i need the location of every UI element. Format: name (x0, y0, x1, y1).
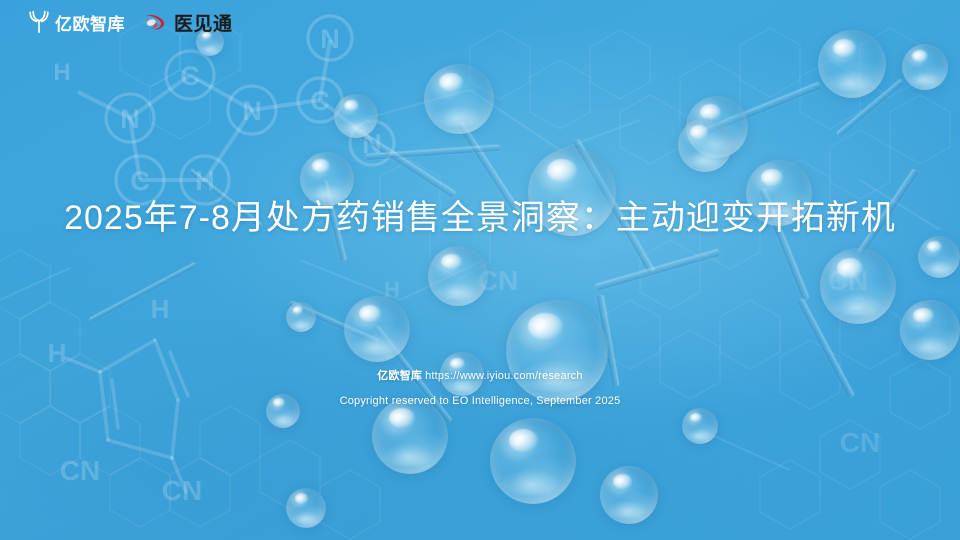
logo-eo-label: 亿欧智库 (55, 16, 125, 33)
svg-text:N: N (320, 24, 340, 54)
molecule-atom-sphere (686, 96, 748, 158)
y-mark-icon (28, 10, 50, 39)
molecule-atom-sphere (682, 408, 718, 444)
chemistry-background: C N N C C H N N H H CN CN (0, 0, 960, 540)
molecule-atom-sphere (600, 466, 658, 524)
swoosh-icon (143, 10, 169, 39)
footer: 亿欧智库https://www.iyiou.com/research Copyr… (0, 368, 960, 409)
logo-yijiantong[interactable]: 医见通 (143, 10, 233, 39)
molecule-bond (595, 249, 720, 291)
molecule-atom-sphere (286, 488, 326, 528)
molecule-atom-sphere (490, 418, 576, 504)
svg-text:CN: CN (840, 427, 880, 458)
svg-text:CN: CN (828, 265, 868, 296)
footer-source-line: 亿欧智库https://www.iyiou.com/research (0, 368, 960, 384)
svg-text:N: N (698, 108, 714, 133)
svg-text:H: H (195, 166, 215, 196)
molecule-atom-sphere (334, 94, 378, 138)
svg-text:CN: CN (60, 455, 100, 486)
svg-text:C: C (180, 61, 200, 91)
svg-text:H: H (384, 277, 400, 302)
molecule-atom-sphere (372, 398, 448, 474)
footer-copyright: Copyright reserved to EO Intelligence, S… (0, 393, 960, 409)
footer-url[interactable]: https://www.iyiou.com/research (425, 370, 583, 382)
molecule-bond (350, 126, 456, 198)
logo-bar: 亿欧智库 医见通 (28, 10, 233, 39)
svg-text:H: H (151, 294, 170, 324)
molecule-3d-layer (0, 0, 960, 540)
molecule-atom-sphere (678, 118, 732, 172)
svg-text:H: H (53, 59, 70, 86)
slide-canvas: C N N C C H N N H H CN CN (0, 0, 960, 540)
svg-text:N: N (242, 96, 262, 126)
molecule-atom-sphere (818, 30, 886, 98)
svg-text:N: N (120, 104, 140, 134)
footer-brand: 亿欧智库 (377, 370, 422, 382)
molecule-bond (289, 300, 379, 345)
molecule-atom-sphere (424, 64, 494, 134)
molecule-atom-sphere (820, 248, 896, 324)
molecule-atom-sphere (900, 300, 960, 360)
logo-eo-intelligence[interactable]: 亿欧智库 (28, 10, 125, 39)
logo-yijiantong-label: 医见通 (174, 15, 233, 34)
molecule-atom-sphere (428, 246, 488, 306)
molecule-atom-sphere (286, 302, 316, 332)
molecule-bond (366, 145, 500, 160)
svg-text:C: C (310, 86, 330, 116)
molecule-atom-sphere (918, 236, 960, 278)
molecule-bond (699, 82, 822, 137)
svg-text:CN: CN (162, 475, 202, 506)
molecule-atom-sphere (344, 296, 410, 362)
svg-text:N: N (362, 129, 382, 159)
svg-text:CN: CN (478, 265, 518, 296)
molecule-atom-sphere (902, 44, 948, 90)
molecule-bond (836, 79, 904, 138)
svg-text:H: H (48, 338, 67, 368)
page-title: 2025年7-8月处方药销售全景洞察：主动迎变开拓新机 (0, 198, 960, 239)
molecule-bond (89, 262, 197, 323)
svg-text:C: C (130, 166, 150, 196)
